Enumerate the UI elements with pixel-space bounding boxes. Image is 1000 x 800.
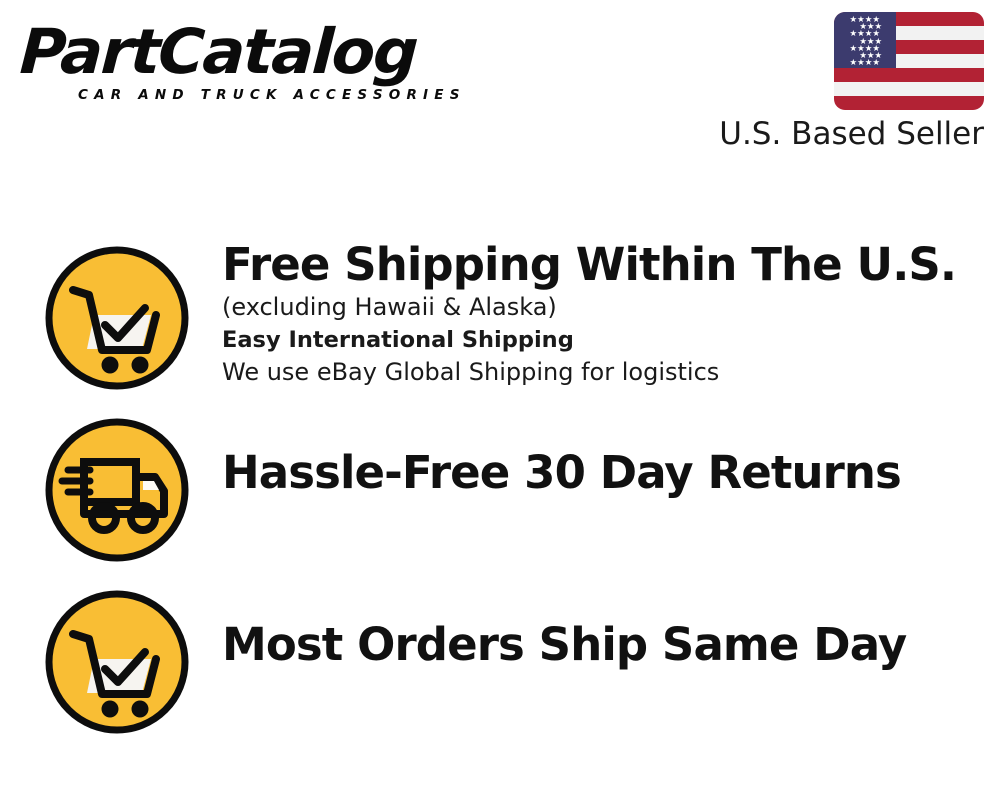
feature-row-free-shipping: Free Shipping Within The U.S. (excluding… [0, 243, 1000, 415]
delivery-truck-icon [42, 415, 192, 565]
brand-tagline: CAR AND TRUCK ACCESSORIES [78, 87, 492, 103]
us-flag-icon: ★★★★ ★★★ ★★★★ ★★★ ★★★★ ★★★ ★★★★ [834, 12, 984, 110]
feature-subtitle-bold: Easy International Shipping [222, 324, 982, 356]
us-based-seller-label: U.S. Based Seller [719, 115, 984, 153]
brand-logo: PartCatalog CAR AND TRUCK ACCESSORIES [22, 18, 492, 103]
page-header: PartCatalog CAR AND TRUCK ACCESSORIES ★★… [0, 0, 1000, 175]
feature-list: Free Shipping Within The U.S. (excluding… [0, 243, 1000, 759]
flag-canton: ★★★★ ★★★ ★★★★ ★★★ ★★★★ ★★★ ★★★★ [834, 12, 896, 68]
us-based-seller-badge: ★★★★ ★★★ ★★★★ ★★★ ★★★★ ★★★ ★★★★ U.S. Bas… [719, 12, 984, 153]
feature-row-same-day-ship: Most Orders Ship Same Day [0, 587, 1000, 759]
feature-title: Most Orders Ship Same Day [222, 619, 982, 671]
feature-subtitle-detail: We use eBay Global Shipping for logistic… [222, 356, 982, 389]
feature-text-free-shipping: Free Shipping Within The U.S. (excluding… [222, 239, 982, 389]
feature-text-same-day-ship: Most Orders Ship Same Day [222, 619, 982, 671]
shopping-cart-check-icon [42, 243, 192, 393]
brand-wordmark: PartCatalog [18, 18, 501, 86]
feature-title: Free Shipping Within The U.S. [222, 239, 982, 291]
shopping-cart-check-icon [42, 587, 192, 737]
feature-title: Hassle-Free 30 Day Returns [222, 447, 982, 499]
feature-text-returns: Hassle-Free 30 Day Returns [222, 447, 982, 499]
feature-row-returns: Hassle-Free 30 Day Returns [0, 415, 1000, 587]
feature-subtitle: (excluding Hawaii & Alaska) [222, 291, 982, 324]
